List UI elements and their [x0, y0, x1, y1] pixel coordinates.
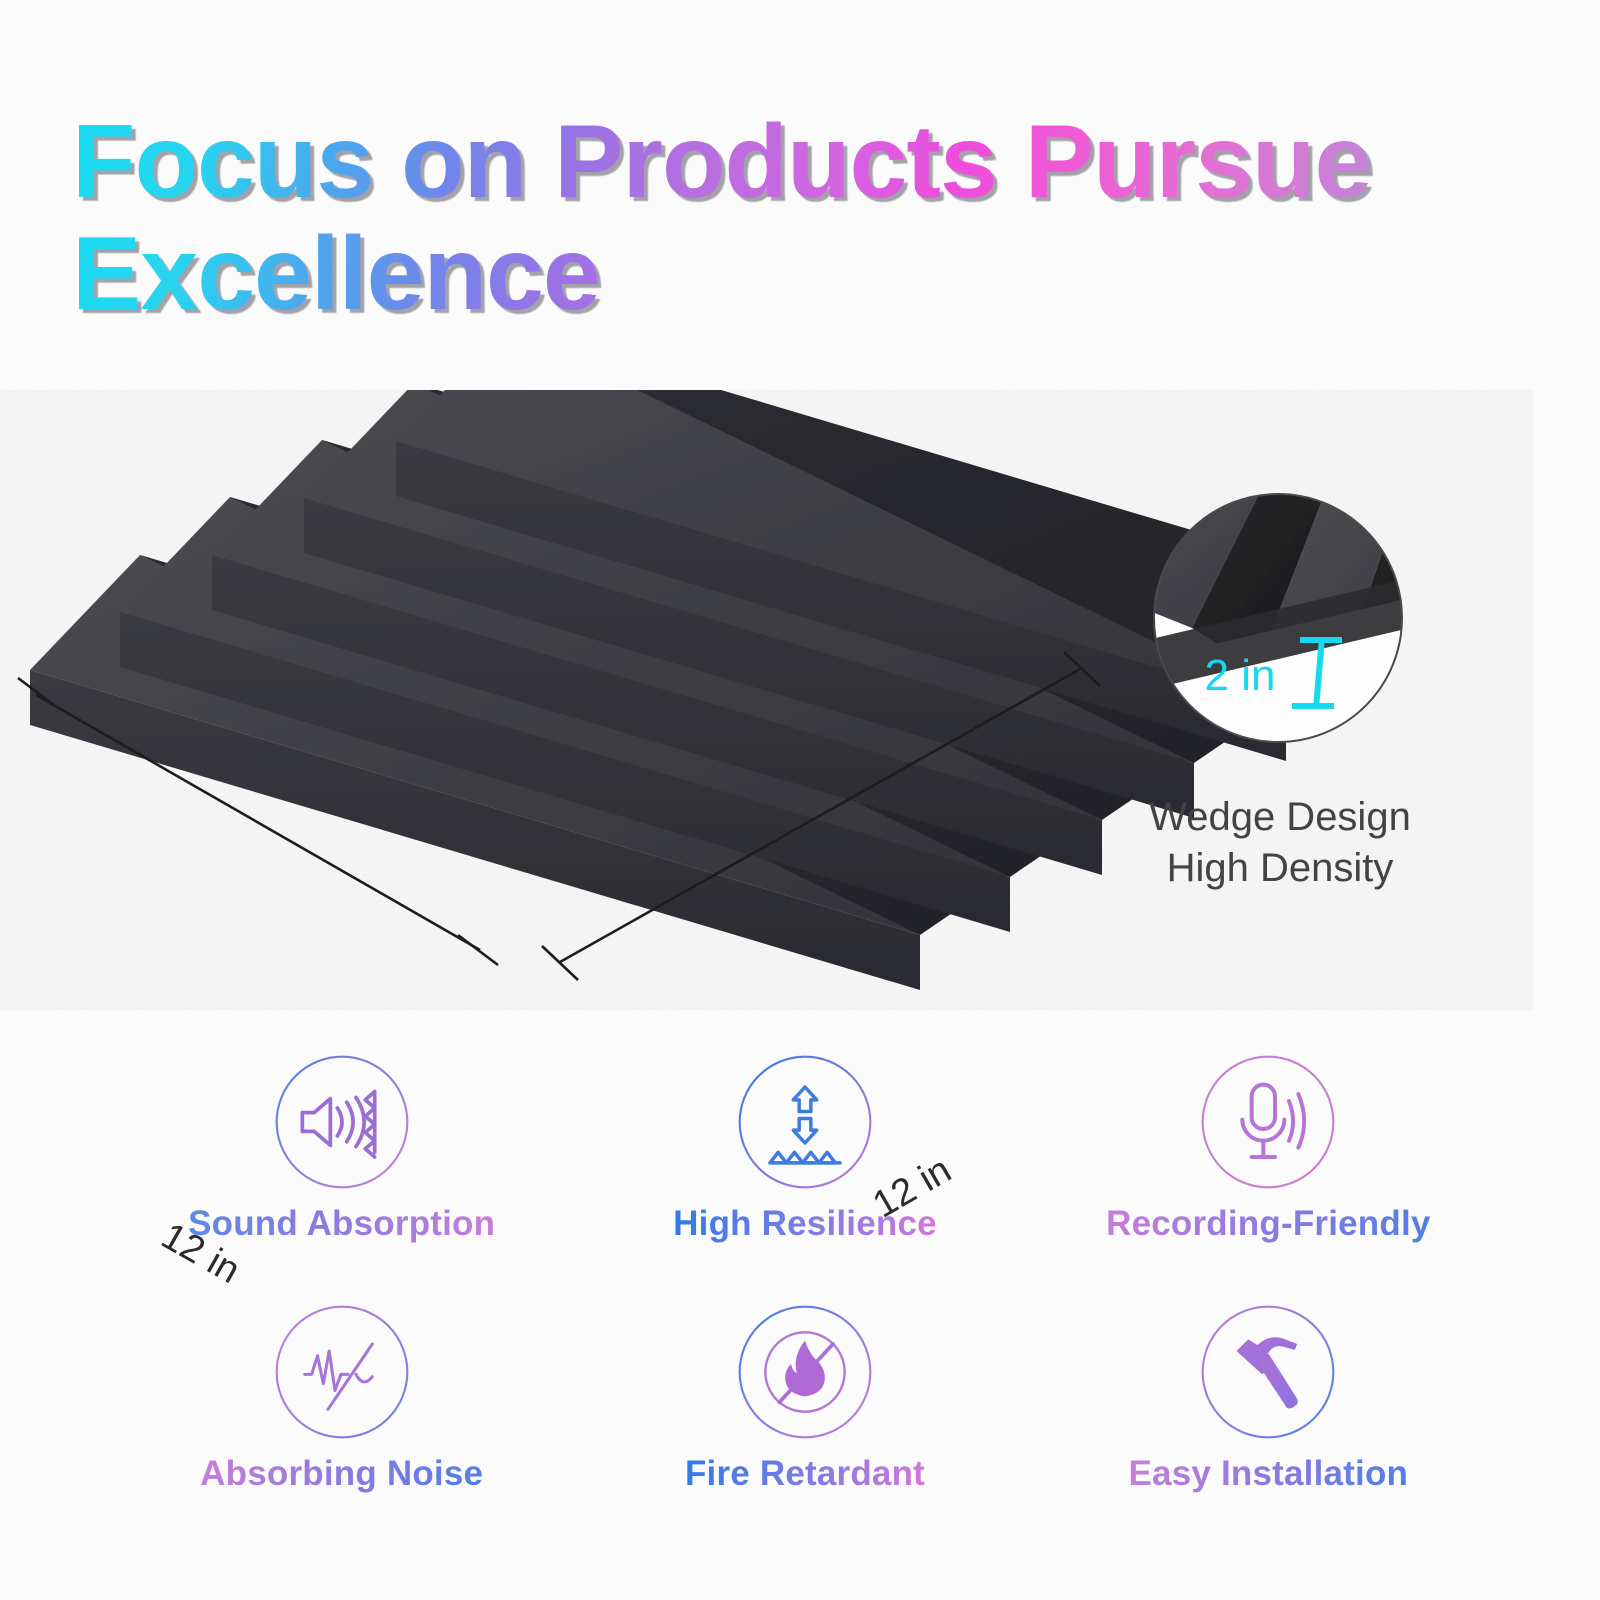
- closeup-foam: [1152, 468, 1404, 768]
- feature-label: Recording-Friendly: [1106, 1204, 1430, 1244]
- feature-sound-absorption[interactable]: Sound Absorption: [110, 1052, 573, 1302]
- microphone-icon: [1198, 1052, 1338, 1192]
- sound-absorption-icon: [272, 1052, 412, 1192]
- inset-caption: Wedge Design High Density: [1110, 792, 1450, 894]
- page-title: Focus on Products Pursue Excellence: [72, 106, 1502, 331]
- wedge-closeup-inset: 2 in: [1152, 468, 1404, 768]
- high-resilience-icon: [735, 1052, 875, 1192]
- waveform-slash-icon: [272, 1302, 412, 1442]
- inset-caption-line1: Wedge Design: [1110, 792, 1450, 843]
- feature-absorbing-noise[interactable]: Absorbing Noise: [110, 1302, 573, 1552]
- fire-retardant-icon: [735, 1302, 875, 1442]
- feature-label: Fire Retardant: [685, 1454, 925, 1494]
- feature-label: Absorbing Noise: [200, 1454, 483, 1494]
- feature-easy-installation[interactable]: Easy Installation: [1037, 1302, 1500, 1552]
- hammer-icon: [1198, 1302, 1338, 1442]
- feature-grid: Sound Absorption High Resilience: [110, 1052, 1500, 1552]
- feature-fire-retardant[interactable]: Fire Retardant: [573, 1302, 1036, 1552]
- feature-label: High Resilience: [673, 1204, 937, 1244]
- thickness-label: 2 in: [1205, 651, 1276, 700]
- feature-recording-friendly[interactable]: Recording-Friendly: [1037, 1052, 1500, 1302]
- product-infographic: Focus on Products Pursue Excellence: [0, 0, 1600, 1600]
- feature-label: Sound Absorption: [188, 1204, 495, 1244]
- feature-label: Easy Installation: [1129, 1454, 1409, 1494]
- inset-caption-line2: High Density: [1110, 843, 1450, 894]
- feature-high-resilience[interactable]: High Resilience: [573, 1052, 1036, 1302]
